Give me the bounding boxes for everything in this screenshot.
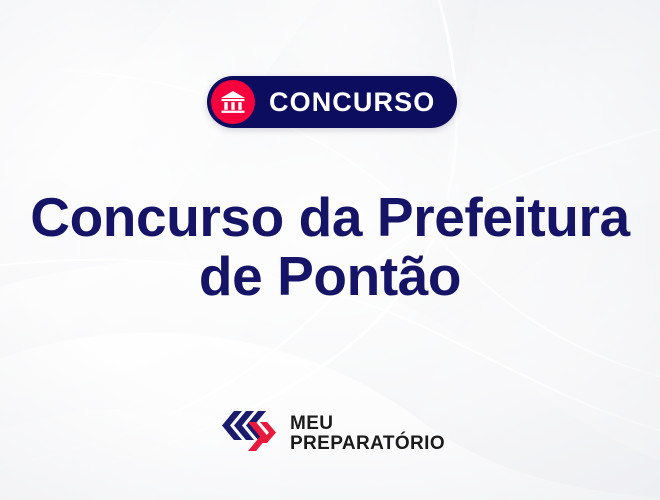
bank-building-icon	[211, 80, 255, 124]
badge-label: CONCURSO	[269, 89, 435, 116]
page-title-line-2: de Pontão	[18, 247, 642, 306]
brand-name-line-1: MEU	[290, 414, 445, 434]
concurso-badge: CONCURSO	[207, 76, 457, 128]
page-title: Concurso da Prefeitura de Pontão	[0, 188, 660, 306]
meu-preparatorio-logo-icon	[215, 408, 277, 459]
brand-name: MEU PREPARATÓRIO	[290, 414, 445, 454]
page-title-line-1: Concurso da Prefeitura	[18, 188, 642, 247]
promo-card: CONCURSO Concurso da Prefeitura de Pontã…	[0, 0, 660, 500]
brand-lockup: MEU PREPARATÓRIO	[0, 408, 660, 459]
brand-name-line-2: PREPARATÓRIO	[290, 434, 445, 454]
